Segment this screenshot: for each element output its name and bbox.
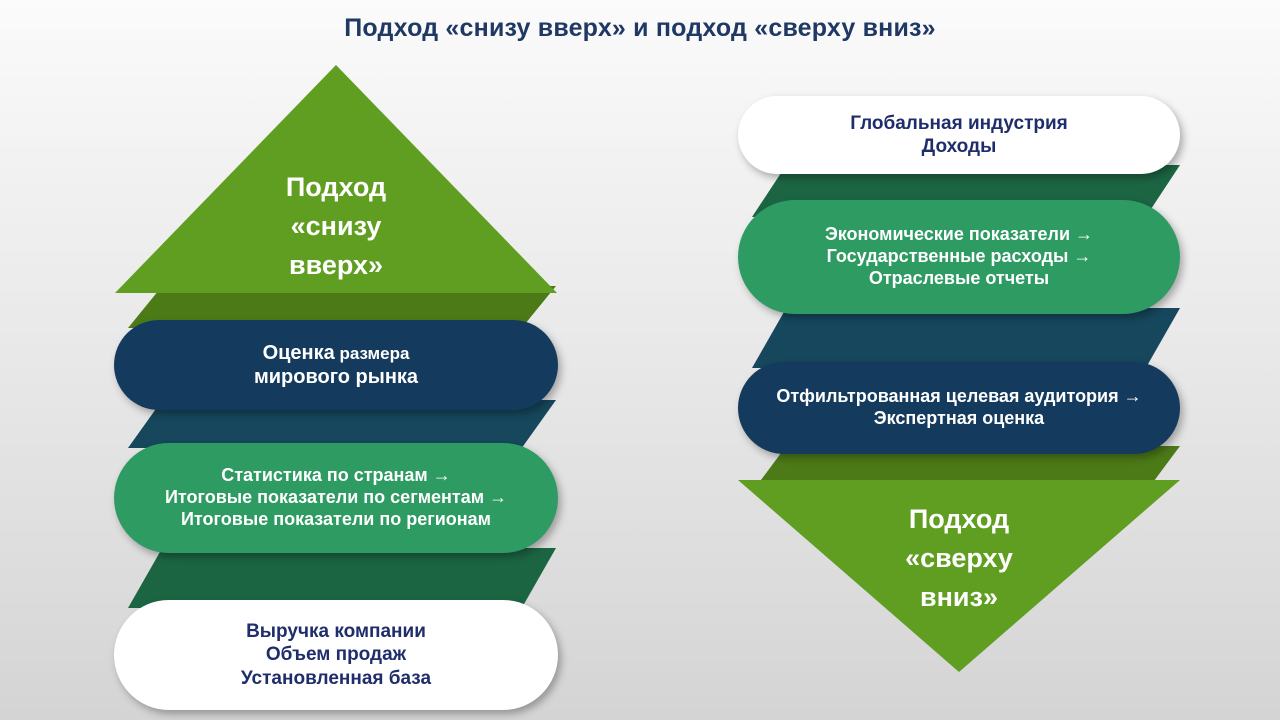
left-step-2-line-2: Итоговые показатели по сегментам → — [165, 487, 507, 509]
left-apex-triangle: Подход «снизу вверх» — [115, 65, 557, 293]
right-step-1-pill[interactable]: Глобальная индустрия Доходы — [738, 96, 1180, 174]
left-step-1-text: Оценка размера мирового рынка — [228, 341, 444, 390]
right-step-3-line-1: Отфильтрованная целевая аудитория → — [776, 386, 1141, 408]
left-step-1-emph: Оценка — [263, 342, 335, 364]
left-step-1-sub: размера — [335, 344, 410, 363]
right-step-1-text: Глобальная индустрия Доходы — [824, 112, 1094, 158]
connector-left-3 — [128, 548, 556, 608]
right-apex-triangle: Подход «сверху вниз» — [738, 480, 1180, 672]
page-title: Подход «снизу вверх» и подход «сверху вн… — [0, 14, 1280, 43]
left-step-2-line-3: Итоговые показатели по регионам — [165, 509, 507, 531]
connector-right-2 — [752, 308, 1180, 368]
right-step-2-text: Экономические показатели → Государственн… — [799, 224, 1119, 290]
right-apex-line-2: «сверху — [905, 539, 1013, 578]
left-step-1-pill[interactable]: Оценка размера мирового рынка — [114, 320, 558, 410]
right-step-3-text: Отфильтрованная целевая аудитория → Эксп… — [750, 386, 1167, 430]
right-step-3-line-2: Экспертная оценка — [776, 408, 1141, 430]
right-step-2-line-1: Экономические показатели → — [825, 224, 1093, 246]
left-step-3-line-3: Установленная база — [241, 667, 431, 690]
left-step-1-line-1: Оценка размера — [254, 341, 418, 365]
left-step-1-line-2: мирового рынка — [254, 365, 418, 389]
right-apex-line-3: вниз» — [905, 578, 1013, 617]
left-apex-label: Подход «снизу вверх» — [286, 168, 386, 293]
left-step-2-line-1: Статистика по странам → — [165, 465, 507, 487]
left-apex-line-2: «снизу — [286, 207, 386, 246]
right-step-1-line-1: Глобальная индустрия — [850, 112, 1068, 135]
left-step-2-text: Статистика по странам → Итоговые показат… — [139, 465, 533, 531]
left-apex-line-3: вверх» — [286, 246, 386, 285]
left-step-3-text: Выручка компании Объем продаж Установлен… — [215, 620, 457, 690]
slide-canvas: Подход «снизу вверх» и подход «сверху вн… — [0, 0, 1280, 720]
left-step-3-pill[interactable]: Выручка компании Объем продаж Установлен… — [114, 600, 558, 710]
right-step-2-line-3: Отраслевые отчеты — [825, 268, 1093, 290]
left-step-3-line-1: Выручка компании — [241, 620, 431, 643]
right-apex-line-1: Подход — [905, 500, 1013, 539]
left-step-2-pill[interactable]: Статистика по странам → Итоговые показат… — [114, 443, 558, 553]
right-step-3-pill[interactable]: Отфильтрованная целевая аудитория → Эксп… — [738, 362, 1180, 454]
right-step-1-line-2: Доходы — [850, 135, 1068, 158]
left-apex-line-1: Подход — [286, 168, 386, 207]
right-step-2-line-2: Государственные расходы → — [825, 246, 1093, 268]
right-apex-label: Подход «сверху вниз» — [905, 480, 1013, 617]
left-step-3-line-2: Объем продаж — [241, 643, 431, 666]
right-step-2-pill[interactable]: Экономические показатели → Государственн… — [738, 200, 1180, 314]
